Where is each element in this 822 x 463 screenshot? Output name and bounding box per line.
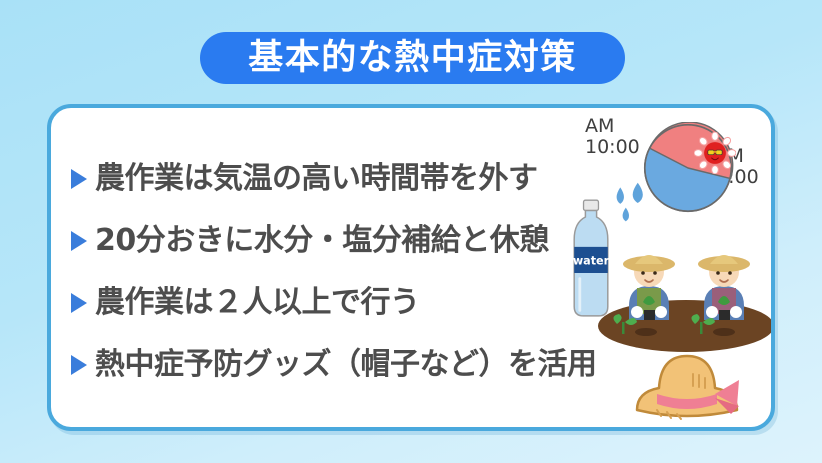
content-panel: 農作業は気温の高い時間帯を外す 20分おきに水分・塩分補給と休憩 農作業は２人以… [47,104,775,431]
page-title-banner: 基本的な熱中症対策 [200,32,625,84]
illustration-group: AM 10:00 PM 3:00 [51,108,771,427]
farmer-left [623,255,675,320]
straw-sun-hat-icon [627,344,747,426]
farmer-right [698,255,750,320]
two-farmers-planting-icon [591,228,775,353]
sun-face-sunglasses-icon [694,132,736,174]
clock-am-label: AM 10:00 [585,116,640,159]
water-droplets-icon [607,180,663,226]
page-title: 基本的な熱中症対策 [248,41,577,76]
